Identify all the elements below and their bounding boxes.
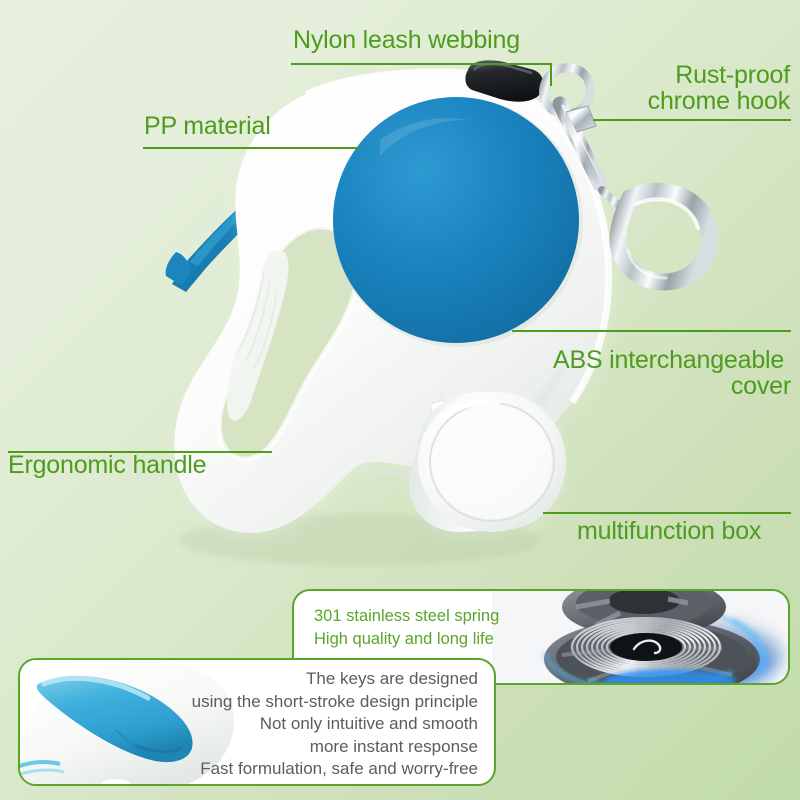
callout-rust-proof-chrome-hook-line2: chrome hook — [624, 88, 790, 114]
keys-line-4: more instant response — [192, 736, 478, 759]
callout-ergonomic-handle-text: Ergonomic handle — [8, 452, 206, 479]
callout-nylon-leash-webbing-drop — [550, 63, 552, 86]
callout-ergonomic-handle-rule — [8, 451, 272, 453]
keys-line-1: The keys are designed — [192, 668, 478, 691]
keys-line-5: Fast formulation, safe and worry-free — [192, 758, 478, 781]
spring-line-2: High quality and long life — [314, 628, 499, 651]
callout-abs-interchangeable-cover-rule — [512, 330, 791, 332]
keys-line-3: Not only intuitive and smooth — [192, 713, 478, 736]
coil-spring-photo — [492, 591, 788, 683]
infographic-stage: Nylon leash webbing Rust-proof chrome ho… — [0, 0, 800, 800]
panel-key-design: The keys are designed using the short-st… — [18, 658, 496, 786]
multifunction-box-cylinder — [409, 392, 566, 532]
callout-multifunction-box-text: multifunction box — [577, 518, 761, 545]
callout-rust-proof-chrome-hook-rule — [593, 119, 791, 121]
callout-nylon-leash-webbing-text: Nylon leash webbing — [293, 27, 520, 54]
callout-nylon-leash-webbing-rule — [291, 63, 552, 65]
keys-line-2: using the short-stroke design principle — [192, 691, 478, 714]
callout-rust-proof-chrome-hook-line1: Rust-proof — [650, 62, 790, 88]
callout-multifunction-box-rule — [543, 512, 791, 514]
callout-abs-interchangeable-cover-line1: ABS interchangeable — [553, 347, 784, 373]
callout-abs-interchangeable-cover-line2: cover — [553, 373, 791, 399]
spring-line-1: 301 stainless steel spring — [314, 605, 499, 628]
panel-stainless-steel-spring-text: 301 stainless steel spring High quality … — [314, 605, 499, 652]
callout-pp-material-rule — [143, 147, 360, 149]
blue-disc-cover — [333, 97, 583, 347]
panel-key-design-text: The keys are designed using the short-st… — [192, 668, 478, 781]
callout-pp-material-text: PP material — [144, 113, 271, 140]
